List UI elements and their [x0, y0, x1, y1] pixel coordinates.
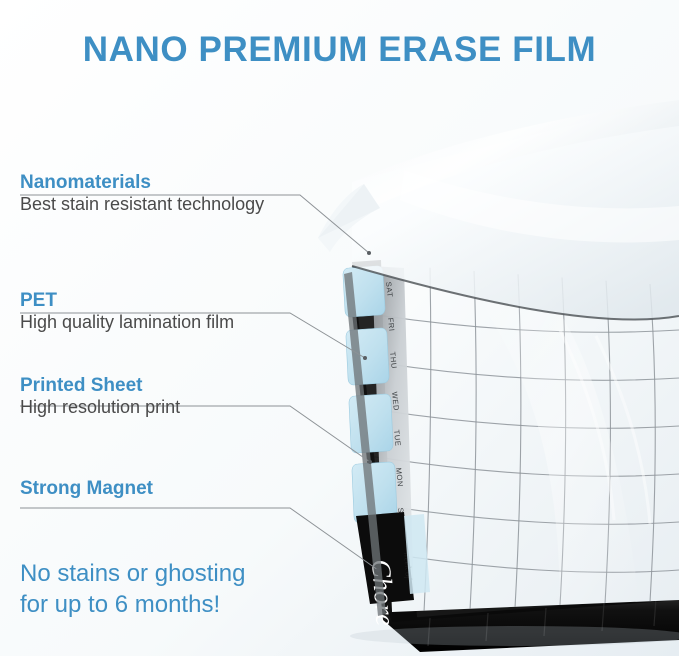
callout-heading: PET	[20, 290, 234, 312]
callout-strong-magnet: Strong Magnet	[20, 478, 153, 500]
callout-nanomaterials: Nanomaterials Best stain resistant techn…	[20, 172, 264, 215]
callout-heading: Nanomaterials	[20, 172, 264, 194]
tagline-line-2: for up to 6 months!	[20, 589, 350, 620]
page-title: NANO PREMIUM ERASE FILM	[0, 30, 679, 70]
svg-text:FRI: FRI	[386, 317, 396, 332]
callout-printed-sheet: Printed Sheet High resolution print	[20, 375, 180, 418]
tagline: No stains or ghosting for up to 6 months…	[20, 558, 350, 620]
svg-text:THU: THU	[388, 351, 399, 369]
infographic-canvas: SAT FRI THU WED TUE MON SUN Chore week o…	[0, 0, 679, 656]
callout-subtitle: High quality lamination film	[20, 312, 234, 333]
callout-heading: Printed Sheet	[20, 375, 180, 397]
svg-text:TUE: TUE	[392, 429, 403, 447]
callout-subtitle: High resolution print	[20, 397, 180, 418]
callout-subtitle: Best stain resistant technology	[20, 194, 264, 215]
svg-text:SAT: SAT	[384, 281, 395, 298]
callout-heading: Strong Magnet	[20, 478, 153, 500]
tagline-line-1: No stains or ghosting	[20, 558, 350, 589]
callout-pet: PET High quality lamination film	[20, 290, 234, 333]
